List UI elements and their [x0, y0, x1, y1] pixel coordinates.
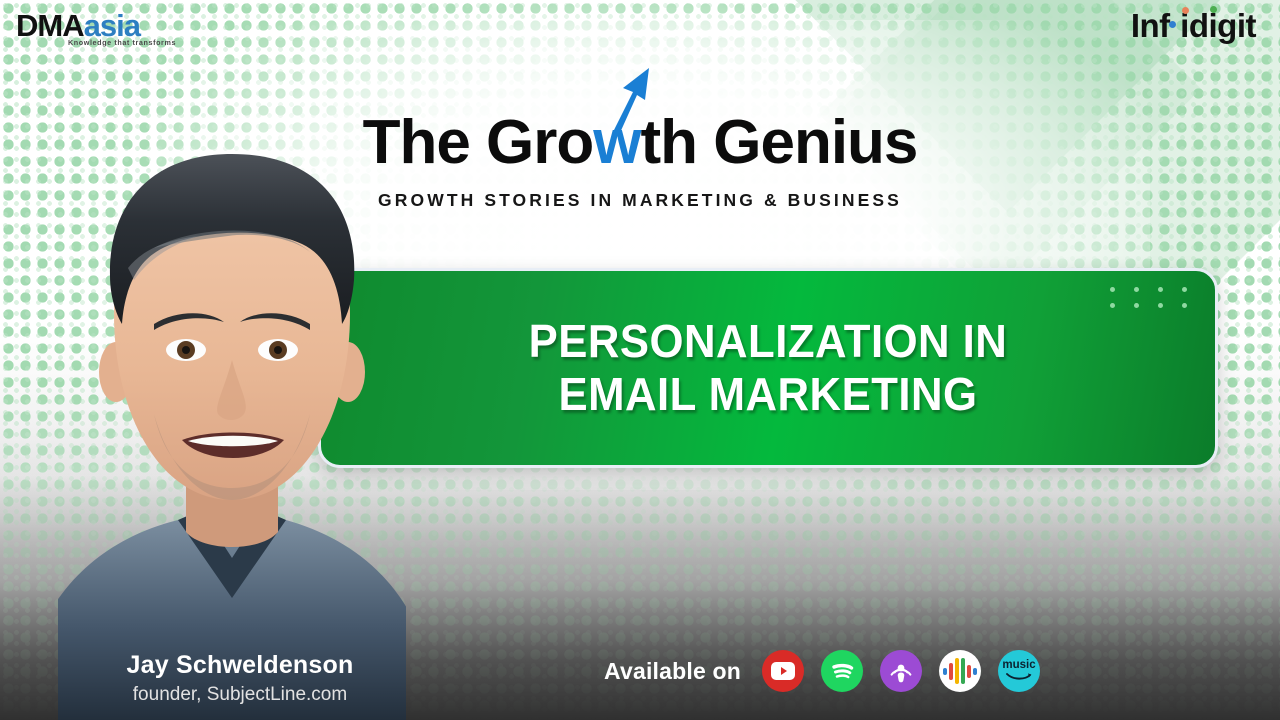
google-podcasts-icon[interactable]	[939, 650, 981, 692]
speaker-role: founder, SubjectLine.com	[20, 684, 460, 706]
apple-podcasts-icon[interactable]	[880, 650, 922, 692]
infidigit-logo-text-part3: d	[1189, 9, 1209, 42]
episode-title: PERSONALIZATION IN EMAIL MARKETING	[529, 315, 1008, 421]
speaker-caption: Jay Schweldenson founder, SubjectLine.co…	[0, 651, 460, 706]
google-podcasts-bars	[943, 658, 977, 684]
show-title-part2: th Genius	[641, 108, 918, 177]
amazon-music-label: music	[1002, 660, 1035, 672]
amazon-smile-icon	[1005, 672, 1033, 682]
show-title: The Growth Genius	[363, 112, 918, 174]
episode-title-line2: EMAIL MARKETING	[529, 368, 1008, 421]
speaker-name: Jay Schweldenson	[20, 651, 460, 680]
spotify-icon[interactable]	[821, 650, 863, 692]
infidigit-dot-group-blue: ·	[1170, 9, 1181, 42]
infidigit-logo-i: i	[1180, 9, 1189, 42]
podcast-episode-cover: DMAasia Knowledge that transforms Inf·id…	[0, 0, 1280, 720]
episode-title-banner: PERSONALIZATION IN EMAIL MARKETING	[318, 268, 1218, 468]
speaker-photo	[58, 128, 406, 720]
available-on-row: Available on	[604, 650, 1040, 692]
amazon-music-icon[interactable]: music	[998, 650, 1040, 692]
green-dot-icon	[1210, 6, 1217, 13]
available-on-label: Available on	[604, 658, 741, 685]
infidigit-logo-i2: igit	[1209, 9, 1256, 42]
infidigit-logo[interactable]: Inf·idigit	[1131, 9, 1256, 42]
banner-dot-decoration	[1110, 287, 1187, 308]
youtube-icon[interactable]	[762, 650, 804, 692]
dma-asia-logo[interactable]: DMAasia Knowledge that transforms	[16, 10, 176, 46]
infidigit-logo-text-part1: Inf	[1131, 9, 1170, 42]
growth-arrow-icon	[593, 66, 663, 136]
blue-dot-icon	[1169, 21, 1176, 28]
episode-title-line1: PERSONALIZATION IN	[529, 315, 1008, 368]
infidigit-logo-text-part4: igit	[1209, 7, 1256, 44]
